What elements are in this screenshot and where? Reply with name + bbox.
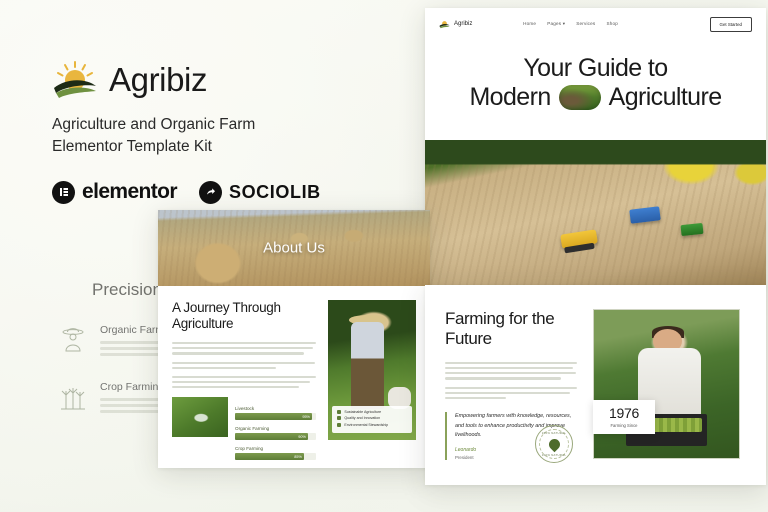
hero-headline-word-modern: Modern	[469, 83, 550, 112]
future-right-column: 1976 Farming Since	[593, 309, 740, 460]
about-right-column: Sustainable Agriculture Quality and Inno…	[328, 300, 416, 460]
brand-block: Agribiz Agriculture and Organic Farm Ele…	[52, 60, 352, 204]
chevron-down-icon: ▾	[563, 21, 566, 26]
skill-bar-livestock: Livestock 95%	[235, 406, 316, 420]
skill-bar-track: 90%	[235, 433, 316, 440]
nav-link-pages[interactable]: Pages ▾	[547, 21, 565, 27]
crop-plant-icon	[60, 381, 86, 411]
sociolib-wordmark: SOCIOLIB	[229, 182, 321, 203]
skill-bar-label: Livestock	[235, 406, 316, 411]
nav-brand-text: Agribiz	[454, 21, 472, 27]
about-media-row: Livestock 95% Organic Farming	[172, 397, 316, 460]
nav-link-shop[interactable]: Shop	[606, 21, 618, 27]
stat-number: 1976	[597, 405, 651, 421]
hay-bale-field-photo: About Us	[158, 210, 430, 286]
partner-logos: elementor SOCIOLIB	[52, 180, 352, 204]
future-heading: Farming for the Future	[445, 309, 577, 350]
badge-caption-bottom: 100% NATURAL	[542, 453, 566, 457]
farmer-with-crate-photo	[593, 309, 740, 459]
showcase-canvas: Agribiz Agriculture and Organic Farm Ele…	[0, 0, 768, 512]
farmer-hat-icon	[60, 324, 86, 354]
nav-link-services[interactable]: Services	[576, 21, 595, 27]
hero-headline-line1: Your Guide to	[443, 54, 748, 83]
stat-label: Farming Since	[597, 423, 651, 428]
elementor-icon	[52, 181, 75, 204]
checklist-label: Environmental Stewardship	[344, 423, 388, 427]
leaf-drone-photo	[172, 397, 228, 437]
brand-tagline: Agriculture and Organic Farm Elementor T…	[52, 114, 352, 158]
skill-bar-organic-farming: Organic Farming 90%	[235, 426, 316, 440]
natural-badge: 100% NATURAL 100% NATURAL	[535, 425, 573, 463]
future-paragraph-1	[445, 362, 577, 380]
nav-brand[interactable]: Agribiz	[439, 19, 472, 29]
future-panel: Farming for the Future Empowering farmer…	[425, 285, 766, 485]
elementor-logo: elementor	[52, 180, 177, 204]
skill-bar-fill: 85%	[235, 453, 304, 460]
skill-bar-value: 85%	[294, 455, 302, 459]
skill-bar-crop-farming: Crop Farming 85%	[235, 446, 316, 460]
badge-caption-top: 100% NATURAL	[542, 431, 566, 435]
field-pill-image	[559, 85, 601, 110]
about-paragraph-1	[172, 342, 316, 355]
skill-bar-fill: 95%	[235, 413, 312, 420]
brand-row: Agribiz	[52, 60, 352, 100]
skill-bar-value: 90%	[298, 435, 306, 439]
about-body: A Journey Through Agriculture	[158, 286, 430, 468]
future-paragraph-2	[445, 387, 577, 400]
aerial-harvest-photo	[425, 140, 766, 288]
stat-card: 1976 Farming Since	[593, 400, 655, 434]
about-panel: About Us A Journey Through Agriculture	[158, 210, 430, 468]
site-navbar: Agribiz Home Pages ▾ Services Shop Get S…	[425, 8, 766, 40]
checklist-label: Sustainable Agriculture	[344, 410, 381, 414]
about-paragraph-2	[172, 362, 316, 369]
farmer-figure	[351, 322, 384, 409]
about-banner-title: About Us	[263, 240, 325, 257]
future-body: Farming for the Future Empowering farmer…	[425, 285, 766, 460]
sociolib-logo: SOCIOLIB	[199, 181, 321, 204]
check-icon	[337, 416, 341, 420]
get-started-button[interactable]: Get Started	[710, 17, 752, 32]
brand-tagline-line2: Elementor Template Kit	[52, 136, 352, 158]
sociolib-arrow-icon	[199, 181, 222, 204]
checklist-item: Sustainable Agriculture	[337, 410, 406, 414]
brand-tagline-line1: Agriculture and Organic Farm	[52, 114, 352, 136]
about-heading: A Journey Through Agriculture	[172, 300, 316, 333]
skill-bar-label: Crop Farming	[235, 446, 316, 451]
green-tractor	[680, 223, 703, 236]
skill-bar-fill: 90%	[235, 433, 308, 440]
check-icon	[337, 423, 341, 427]
sun-field-logo-icon	[52, 60, 98, 100]
checklist-item: Environmental Stewardship	[337, 423, 406, 427]
checklist-label: Quality and Innovation	[344, 416, 380, 420]
checklist-overlay: Sustainable Agriculture Quality and Inno…	[332, 406, 411, 434]
combine-harvester	[561, 229, 599, 248]
blue-trailer	[629, 206, 660, 224]
check-icon	[337, 410, 341, 414]
farmer-with-sheep-photo: Sustainable Agriculture Quality and Inno…	[328, 300, 416, 440]
elementor-wordmark: elementor	[82, 180, 177, 204]
skill-bar-value: 95%	[302, 415, 310, 419]
skill-bar-label: Organic Farming	[235, 426, 316, 431]
nav-link-home[interactable]: Home	[523, 21, 536, 27]
hero-headline-word-agriculture: Agriculture	[609, 83, 722, 112]
brand-name: Agribiz	[109, 61, 207, 99]
hero-panel: Agribiz Home Pages ▾ Services Shop Get S…	[425, 8, 766, 288]
about-paragraph-3	[172, 376, 316, 389]
skill-bars: Livestock 95% Organic Farming	[235, 406, 316, 460]
checklist-item: Quality and Innovation	[337, 416, 406, 420]
skill-bar-track: 85%	[235, 453, 316, 460]
skill-bar-track: 95%	[235, 413, 316, 420]
sun-field-logo-icon	[439, 19, 450, 29]
about-left-column: A Journey Through Agriculture	[172, 300, 316, 460]
hero-headline: Your Guide to Modern Agriculture	[425, 40, 766, 128]
hero-headline-line2: Modern Agriculture	[443, 83, 748, 112]
nav-links: Home Pages ▾ Services Shop	[523, 21, 618, 27]
